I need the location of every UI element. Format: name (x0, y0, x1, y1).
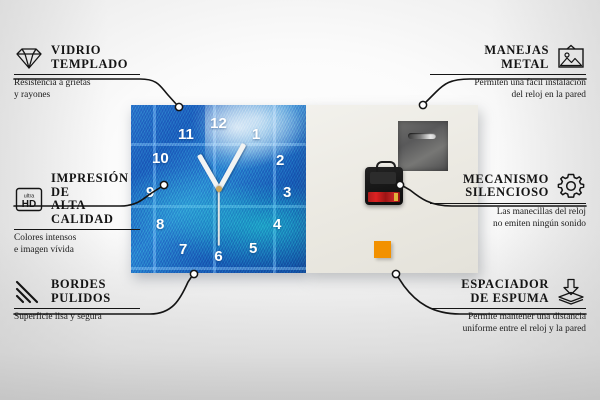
feature-bordes-pulidos: BORDES PULIDOS Superficie lisa y segura (14, 278, 140, 324)
feature-title: ESPACIADOR DE ESPUMA (461, 278, 549, 305)
ultra-hd-icon: ultra HD (14, 186, 44, 213)
feature-title: MANEJAS METAL (484, 44, 549, 71)
clock-movement-box (365, 167, 403, 205)
product-clock-front: 12 1 2 3 4 5 6 7 8 9 10 11 (131, 105, 306, 273)
clock-numeral-1: 1 (252, 127, 260, 142)
feature-heading: MANEJAS METAL (430, 44, 586, 71)
feature-heading: VIDRIO TEMPLADO (14, 44, 140, 71)
feature-description: Superficie lisa y segura (14, 312, 140, 323)
feature-heading: MECANISMO SILENCIOSO (430, 172, 586, 200)
clock-numeral-6: 6 (214, 249, 222, 264)
feature-vidrio-templado: VIDRIO TEMPLADO Resistencia a grietas y … (14, 44, 140, 101)
battery-terminal (394, 193, 398, 201)
gear-icon (556, 172, 586, 200)
arrow-down-foam-icon (556, 278, 586, 305)
feature-description: Las manecillas del reloj no emiten ningú… (430, 207, 586, 230)
feature-heading: BORDES PULIDOS (14, 278, 140, 305)
hanging-loop (376, 161, 396, 172)
hanger-slot (408, 133, 436, 139)
feature-espaciador-espuma: ESPACIADOR DE ESPUMA Permite mantener un… (430, 278, 586, 335)
clock-numeral-10: 10 (152, 151, 169, 166)
clock-numeral-2: 2 (276, 153, 284, 168)
polished-edge-lines-icon (14, 279, 44, 305)
clock-center-pivot (216, 186, 222, 192)
metal-hanger-plate (398, 121, 448, 171)
movement-recess (370, 172, 396, 184)
feature-divider (430, 308, 586, 309)
foam-spacer-pad (374, 241, 391, 258)
feature-description: Resistencia a grietas y rayones (14, 78, 140, 101)
feature-title: BORDES PULIDOS (51, 278, 111, 305)
feature-divider (430, 74, 586, 75)
clock-numeral-8: 8 (156, 217, 164, 232)
clock-second-hand (218, 189, 220, 246)
clock-numeral-7: 7 (179, 242, 187, 257)
feature-divider (14, 308, 140, 309)
feature-divider (430, 203, 586, 204)
clock-numeral-9: 9 (146, 185, 154, 200)
feature-manejas-metal: MANEJAS METAL Permiten una fácil instala… (430, 44, 586, 101)
feature-heading: ESPACIADOR DE ESPUMA (430, 278, 586, 305)
clock-numeral-3: 3 (283, 185, 291, 200)
clock-numeral-5: 5 (249, 241, 257, 256)
battery (368, 192, 400, 202)
feature-description: Colores intensos e imagen vívida (14, 233, 140, 256)
feature-divider (14, 229, 140, 230)
svg-text:HD: HD (22, 199, 36, 210)
feature-description: Permiten una fácil instalación del reloj… (430, 78, 586, 101)
clock-numeral-12: 12 (210, 116, 227, 131)
clock-numeral-4: 4 (273, 217, 281, 232)
feature-title: IMPRESIÓN DE ALTA CALIDAD (51, 172, 140, 226)
feature-mecanismo-silencioso: MECANISMO SILENCIOSO Las manecillas del … (430, 172, 586, 230)
infographic-canvas: 12 1 2 3 4 5 6 7 8 9 10 11 (0, 0, 600, 400)
feature-heading: ultra HD IMPRESIÓN DE ALTA CALIDAD (14, 172, 140, 226)
feature-title: VIDRIO TEMPLADO (51, 44, 128, 71)
clock-numeral-11: 11 (178, 127, 194, 142)
picture-frame-hanger-icon (556, 44, 586, 71)
feature-impresion-alta-calidad: ultra HD IMPRESIÓN DE ALTA CALIDAD Color… (14, 172, 140, 256)
feature-description: Permite mantener una distancia uniforme … (430, 312, 586, 335)
feature-title: MECANISMO SILENCIOSO (463, 173, 549, 200)
diamond-icon (14, 45, 44, 71)
feature-divider (14, 74, 140, 75)
